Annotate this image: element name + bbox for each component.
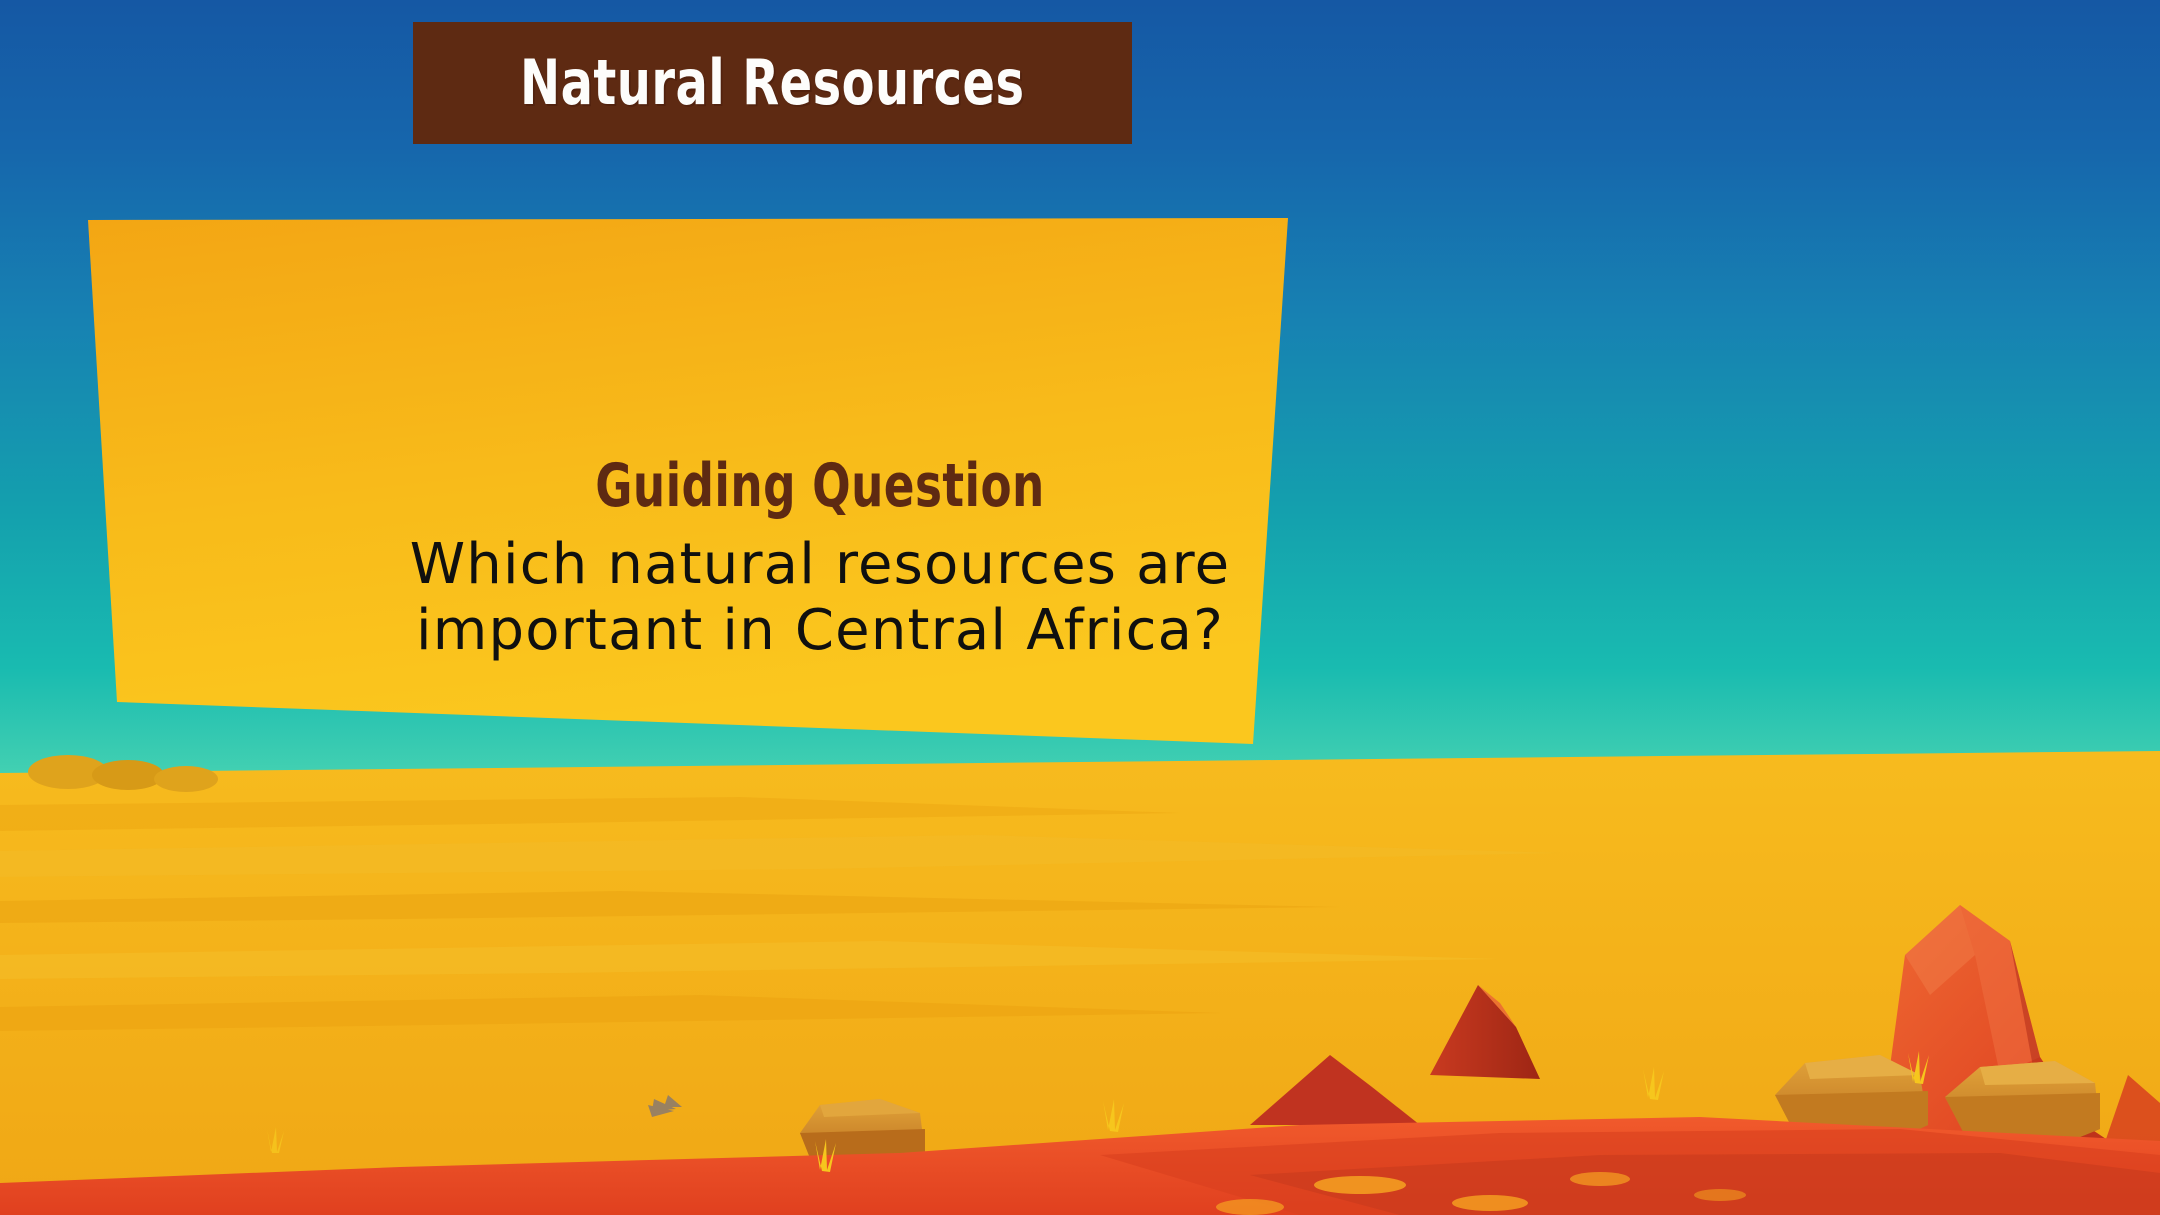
desert-landscape [0, 655, 2160, 1215]
guiding-question-body: Which natural resources are important in… [380, 532, 1260, 664]
guiding-question-heading: Guiding Question [450, 455, 1189, 518]
question-line-1: Which natural resources are [380, 532, 1260, 598]
slide-canvas: Guiding Question Which natural resources… [0, 0, 2160, 1215]
slide-title-banner: Natural Resources [413, 22, 1132, 144]
slide-title: Natural Resources [520, 52, 1024, 114]
card-text-block: Guiding Question Which natural resources… [380, 455, 1260, 664]
question-line-2: important in Central Africa? [380, 598, 1260, 664]
